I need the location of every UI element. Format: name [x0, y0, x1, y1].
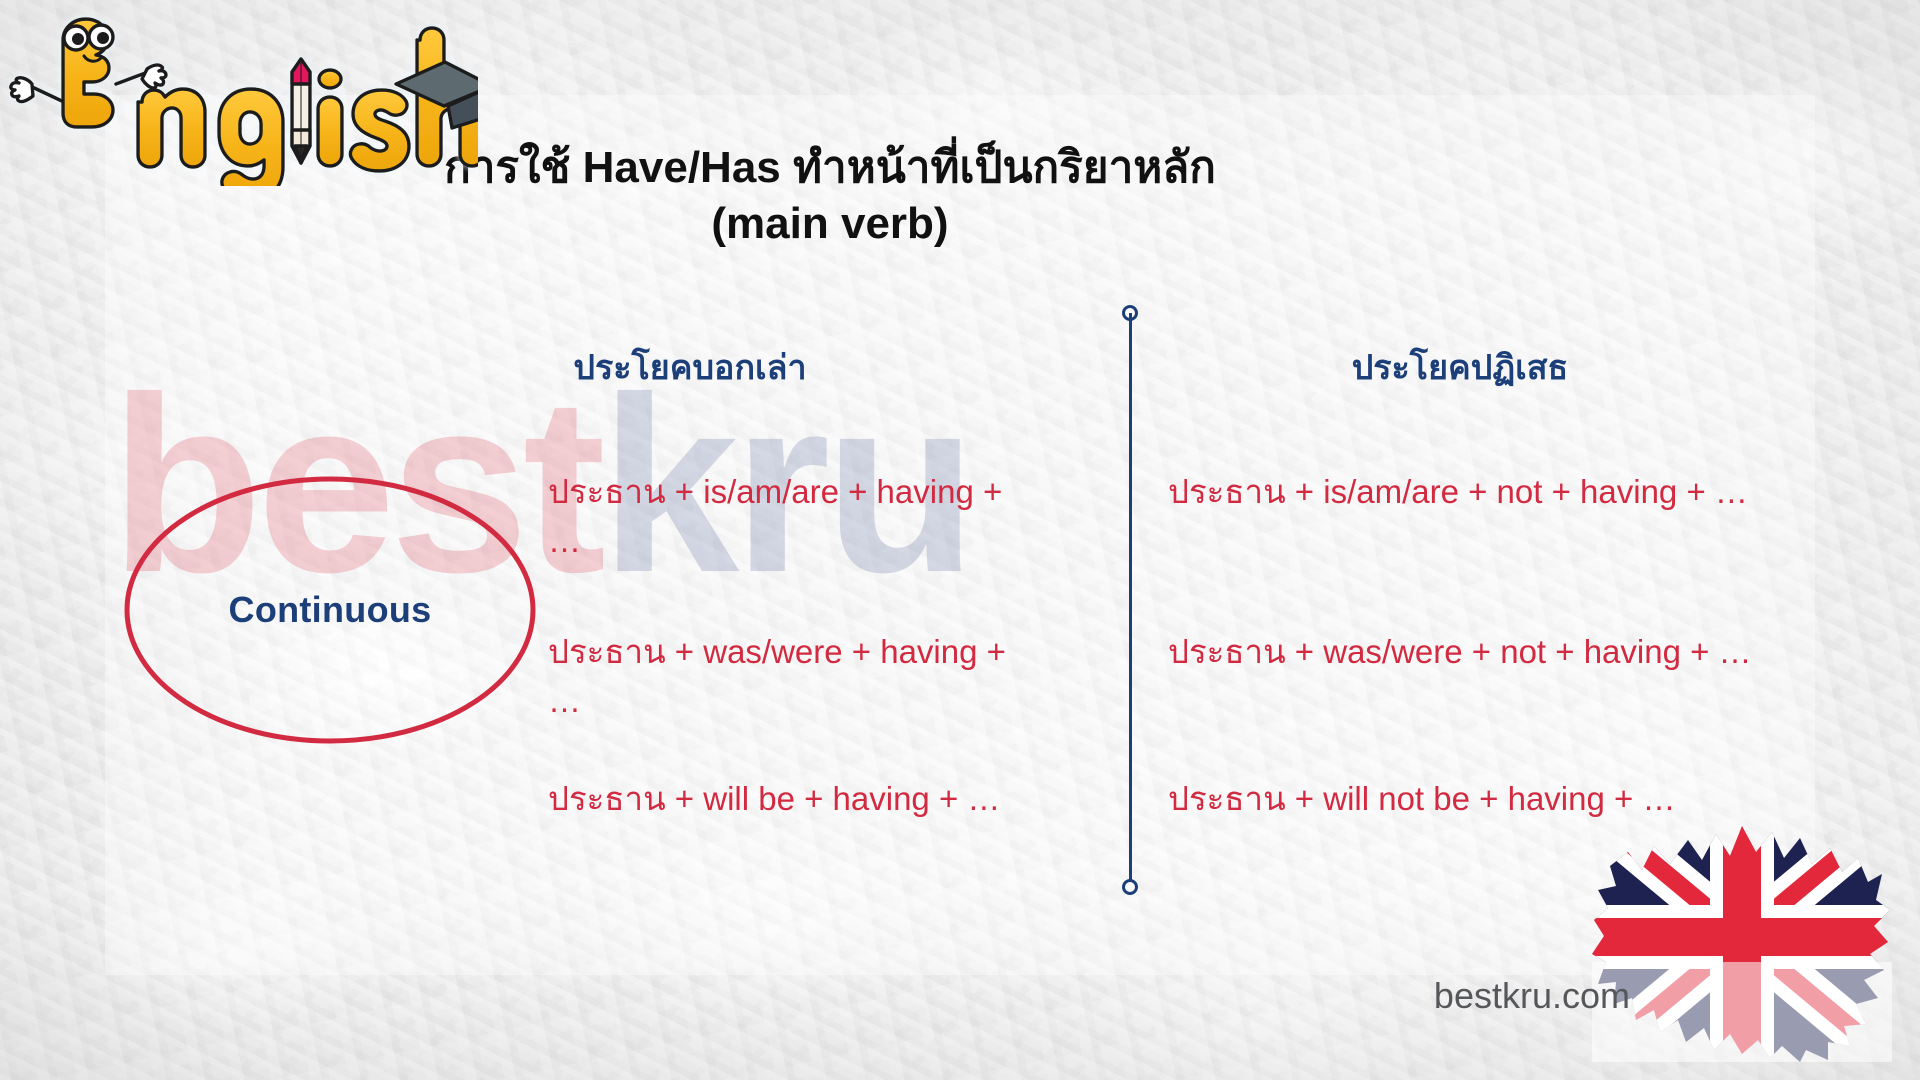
page-title-line-1: การใช้ Have/Has ทำหน้าที่เป็นกริยาหลัก	[444, 143, 1216, 192]
site-url: bestkru.com	[1300, 975, 1630, 1023]
logo-arm-left	[30, 86, 64, 102]
logo-pupil-right	[97, 32, 109, 44]
logo-hand-right	[142, 65, 166, 88]
tense-label: Continuous	[120, 470, 540, 750]
logo-letter-s	[350, 90, 409, 171]
logo-letter-n	[138, 89, 205, 167]
united-kingdom-flag-icon	[1592, 812, 1892, 1062]
column-divider	[1118, 305, 1142, 895]
logo-letter-i	[318, 70, 342, 166]
formula-affirmative-past: ประธาน + was/were + having + …	[548, 628, 1018, 726]
logo-letter-g	[219, 89, 283, 186]
formula-negative-past: ประธาน + was/were + not + having + …	[1168, 628, 1808, 677]
english-logo	[8, 6, 478, 186]
formula-affirmative-present: ประธาน + is/am/are + having + …	[548, 468, 1018, 566]
affirmative-column-header: ประโยคบอกเล่า	[460, 340, 920, 394]
negative-column-header: ประโยคปฏิเสธ	[1180, 340, 1740, 394]
page-title-line-2: (main verb)	[300, 196, 1360, 252]
formula-affirmative-future: ประธาน + will be + having + …	[548, 775, 1018, 824]
logo-hand-left	[11, 78, 33, 102]
formula-negative-future: ประธาน + will not be + having + …	[1168, 775, 1808, 824]
logo-pupil-left	[72, 33, 84, 45]
divider-knob-bottom	[1122, 879, 1138, 895]
formula-negative-present: ประธาน + is/am/are + not + having + …	[1168, 468, 1808, 517]
divider-line	[1129, 313, 1132, 887]
logo-pencil-icon	[292, 59, 310, 163]
